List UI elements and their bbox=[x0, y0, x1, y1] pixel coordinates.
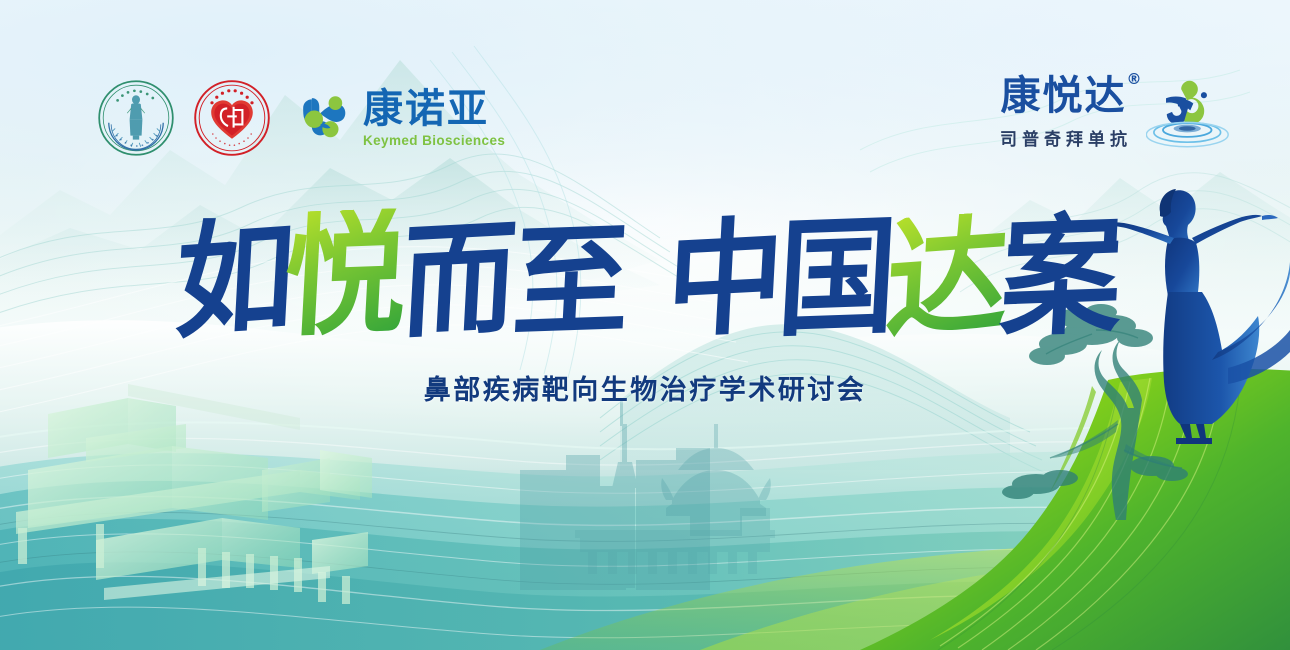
product-generic-name: 司普奇拜单抗 bbox=[995, 125, 1132, 150]
product-brand-name-text: 康悦达 bbox=[1001, 73, 1127, 119]
charity-seal-logo bbox=[192, 78, 272, 158]
product-brand-logo: 康悦达 ® 司普奇拜单抗 bbox=[995, 76, 1230, 150]
conference-banner: 康诺亚 Keymed Biosciences 康悦达 ® 司普奇拜单抗 bbox=[0, 0, 1290, 650]
conference-subtitle: 鼻部疾病靶向生物治疗学术研讨会 bbox=[0, 368, 1290, 407]
keymed-en-name: Keymed Biosciences bbox=[363, 134, 505, 148]
keymed-cn-name: 康诺亚 bbox=[363, 89, 505, 129]
ripple-figure-icon bbox=[1146, 77, 1230, 149]
registered-trademark-icon: ® bbox=[1127, 72, 1144, 87]
keymed-mark-icon bbox=[292, 87, 354, 149]
partner-logo-row: 康诺亚 Keymed Biosciences bbox=[96, 78, 505, 158]
product-brand-name: 康悦达 ® bbox=[1001, 76, 1127, 116]
keymed-logo: 康诺亚 Keymed Biosciences bbox=[292, 87, 505, 149]
academy-seal-logo bbox=[96, 78, 176, 158]
product-brand-words: 康悦达 ® 司普奇拜单抗 bbox=[995, 76, 1132, 150]
